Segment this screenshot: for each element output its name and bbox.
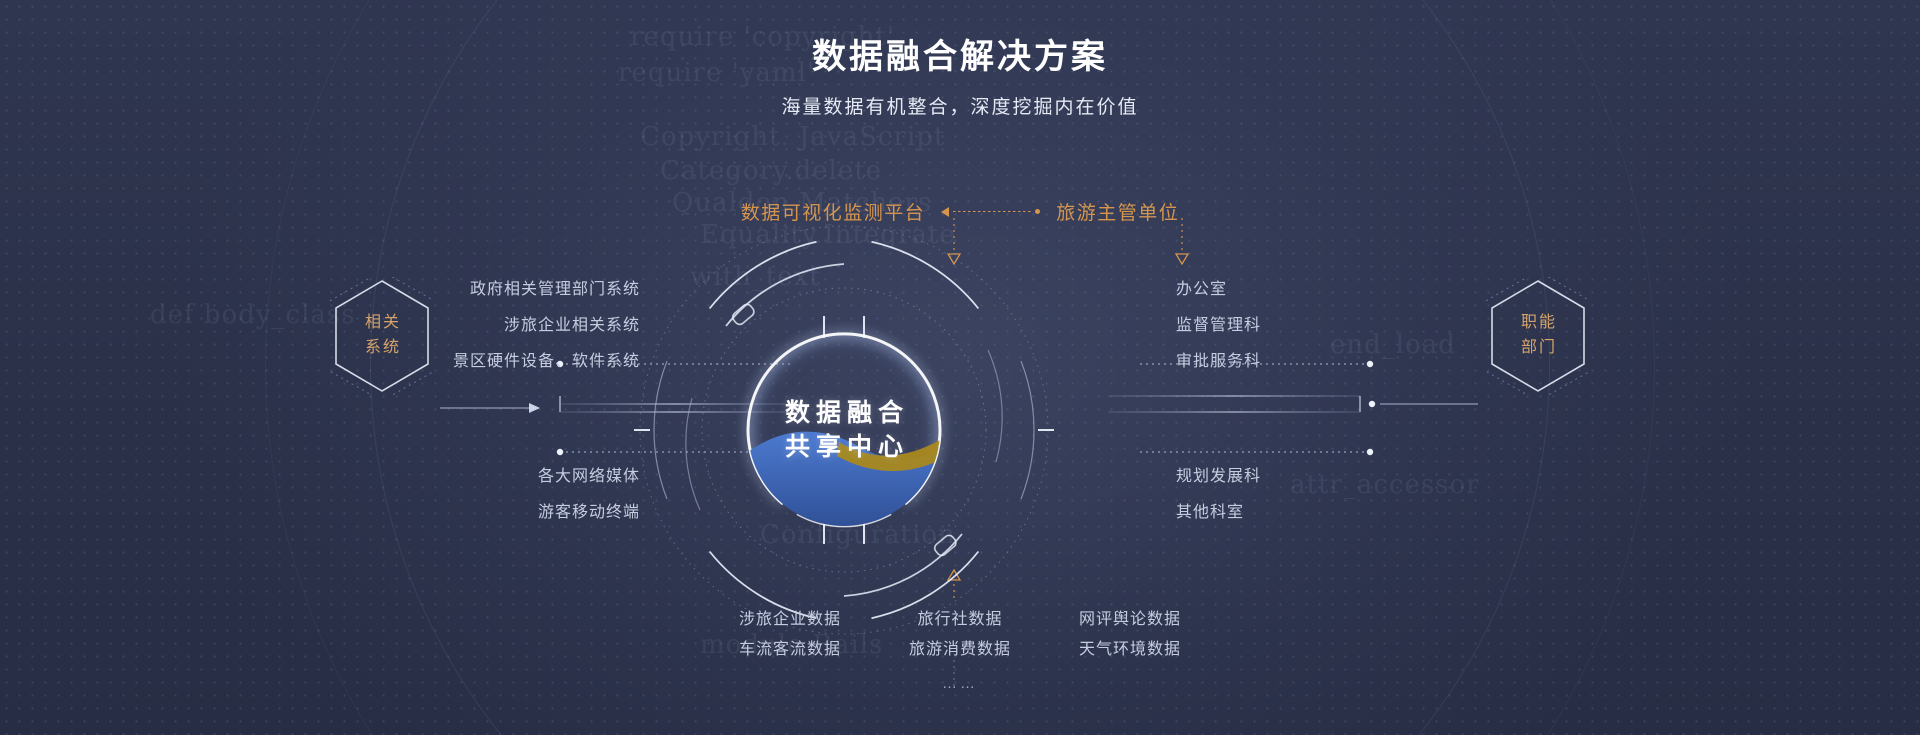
bottom-data-label[interactable]: 旅行社数据: [894, 605, 1026, 635]
left-bottom-label[interactable]: 各大网络媒体: [240, 459, 640, 495]
bottom-row-2: 车流客流数据 旅游消费数据 天气环境数据: [0, 635, 1920, 665]
right-top-label[interactable]: 审批服务科: [1176, 344, 1576, 380]
bottom-data-label[interactable]: 旅游消费数据: [894, 635, 1026, 665]
triangle-left-icon: [941, 207, 949, 217]
bottom-data-label[interactable]: 天气环境数据: [1064, 635, 1196, 665]
visualization-platform-label[interactable]: 数据可视化监测平台: [741, 198, 926, 225]
bottom-data-label[interactable]: 涉旅企业数据: [724, 605, 856, 635]
left-top-label[interactable]: 涉旅企业相关系统: [240, 308, 640, 344]
bottom-ellipsis: ……: [0, 675, 1920, 692]
left-bottom-label-group: 各大网络媒体 游客移动终端: [240, 459, 640, 531]
dot-icon: [1035, 209, 1040, 214]
bottom-data-label[interactable]: 车流客流数据: [724, 635, 856, 665]
tourism-authority-label[interactable]: 旅游主管单位: [1056, 198, 1179, 225]
dotted-line-icon: [953, 211, 1031, 212]
code-word: Category.delete: [660, 156, 882, 186]
header-block: 数据融合解决方案 海量数据有机整合，深度挖掘内在价值: [0, 36, 1920, 119]
data-fusion-hub[interactable]: 数据融合 共享中心: [634, 220, 1054, 640]
bottom-data-sources: 涉旅企业数据 旅行社数据 网评舆论数据 车流客流数据 旅游消费数据 天气环境数据…: [0, 605, 1920, 692]
page-subtitle: 海量数据有机整合，深度挖掘内在价值: [0, 92, 1920, 119]
left-top-label[interactable]: 政府相关管理部门系统: [240, 272, 640, 308]
right-top-label-group: 办公室 监督管理科 审批服务科: [1176, 272, 1576, 380]
right-top-label[interactable]: 办公室: [1176, 272, 1576, 308]
code-word: Copyright. JavaScript: [640, 122, 945, 152]
right-bottom-label[interactable]: 规划发展科: [1176, 459, 1576, 495]
left-top-label-group: 政府相关管理部门系统 涉旅企业相关系统 景区硬件设备、软件系统: [240, 272, 640, 380]
page-title: 数据融合解决方案: [0, 36, 1920, 79]
right-bottom-label[interactable]: 其他科室: [1176, 495, 1576, 531]
flow-connector: [941, 207, 1040, 217]
infographic-canvas: require 'copyright' require 'yaml' Copyr…: [0, 0, 1920, 735]
left-top-label[interactable]: 景区硬件设备、软件系统: [240, 344, 640, 380]
left-bottom-label[interactable]: 游客移动终端: [240, 495, 640, 531]
bottom-data-label[interactable]: 网评舆论数据: [1064, 605, 1196, 635]
top-flow-row: 数据可视化监测平台 旅游主管单位: [0, 198, 1920, 225]
right-top-label[interactable]: 监督管理科: [1176, 308, 1576, 344]
right-bottom-label-group: 规划发展科 其他科室: [1176, 459, 1576, 531]
bottom-row-1: 涉旅企业数据 旅行社数据 网评舆论数据: [0, 605, 1920, 635]
